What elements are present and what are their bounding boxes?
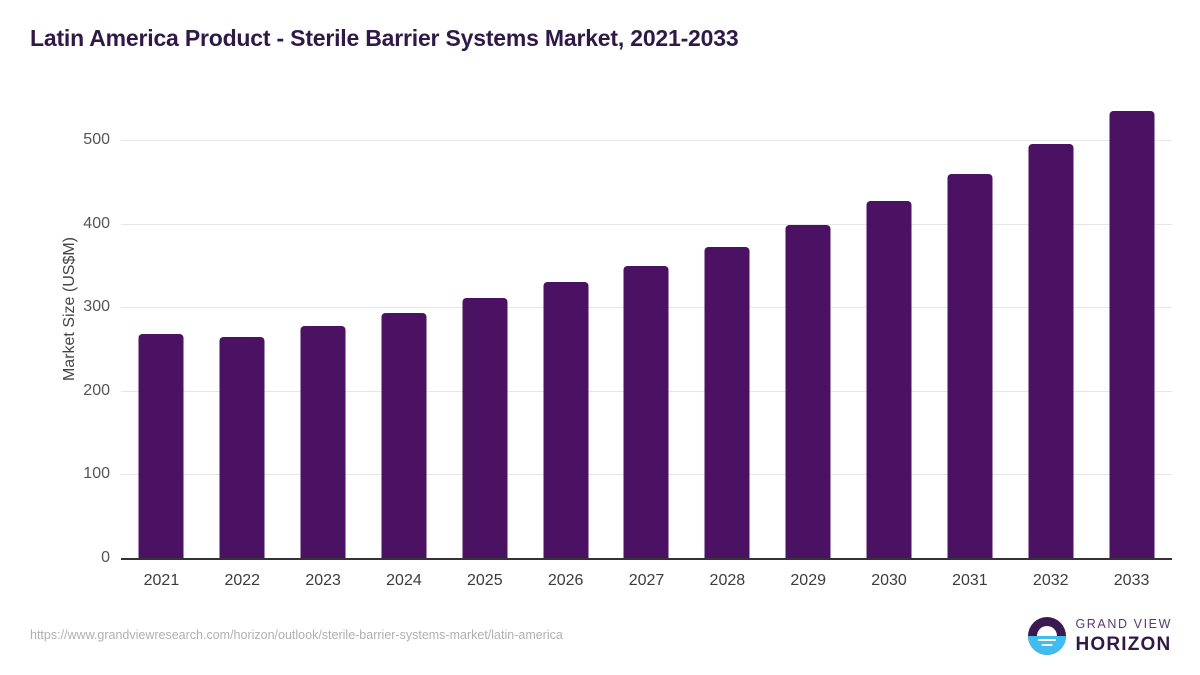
y-tick-label: 200 <box>50 382 110 400</box>
x-tick-label: 2025 <box>444 572 525 590</box>
bar-group: 2029 <box>768 0 849 675</box>
bar-group: 2032 <box>1010 0 1091 675</box>
logo-line-lower <box>1042 644 1053 646</box>
bar[interactable] <box>462 298 507 558</box>
x-tick-label: 2023 <box>283 572 364 590</box>
bar[interactable] <box>381 313 426 558</box>
bar-group: 2025 <box>444 0 525 675</box>
bar-group: 2022 <box>202 0 283 675</box>
y-tick-label: 100 <box>50 465 110 483</box>
bar[interactable] <box>947 174 992 558</box>
bar[interactable] <box>139 334 184 558</box>
bar[interactable] <box>624 266 669 558</box>
chart-page: Latin America Product - Sterile Barrier … <box>0 0 1200 675</box>
bar[interactable] <box>867 201 912 558</box>
bar-group: 2033 <box>1091 0 1172 675</box>
bar-group: 2021 <box>121 0 202 675</box>
logo-line-upper <box>1038 639 1056 641</box>
bar[interactable] <box>301 326 346 558</box>
x-tick-label: 2032 <box>1010 572 1091 590</box>
chart-plot-area: Market Size (US$M) 0100200300400500 2021… <box>0 0 1200 675</box>
bar-group: 2024 <box>364 0 445 675</box>
x-tick-label: 2029 <box>768 572 849 590</box>
horizon-sun-icon <box>1028 617 1066 655</box>
x-tick-label: 2026 <box>525 572 606 590</box>
bar[interactable] <box>543 282 588 558</box>
x-tick-label: 2027 <box>606 572 687 590</box>
bar[interactable] <box>220 337 265 558</box>
y-tick-label: 400 <box>50 215 110 233</box>
grand-view-horizon-logo[interactable]: GRAND VIEW HORIZON <box>1028 617 1172 655</box>
bar[interactable] <box>1109 111 1154 558</box>
x-tick-label: 2030 <box>849 572 930 590</box>
x-tick-label: 2031 <box>929 572 1010 590</box>
logo-sun-dome <box>1037 626 1057 636</box>
bar-group: 2030 <box>849 0 930 675</box>
bar[interactable] <box>1028 144 1073 558</box>
source-url[interactable]: https://www.grandviewresearch.com/horizo… <box>30 628 563 642</box>
y-tick-label: 0 <box>50 549 110 567</box>
logo-grand-view-text: GRAND VIEW <box>1075 618 1172 631</box>
x-tick-label: 2028 <box>687 572 768 590</box>
x-tick-label: 2033 <box>1091 572 1172 590</box>
x-tick-label: 2021 <box>121 572 202 590</box>
logo-wordmark: GRAND VIEW HORIZON <box>1075 618 1172 654</box>
bar-group: 2026 <box>525 0 606 675</box>
bar[interactable] <box>705 247 750 558</box>
logo-horizon-text: HORIZON <box>1075 635 1172 654</box>
bar-group: 2028 <box>687 0 768 675</box>
y-tick-label: 500 <box>50 131 110 149</box>
bar-group: 2031 <box>929 0 1010 675</box>
x-tick-label: 2022 <box>202 572 283 590</box>
y-tick-label: 300 <box>50 298 110 316</box>
x-tick-label: 2024 <box>364 572 445 590</box>
bar-series: 2021202220232024202520262027202820292030… <box>121 0 1172 675</box>
bar-group: 2023 <box>283 0 364 675</box>
bar[interactable] <box>786 225 831 558</box>
bar-group: 2027 <box>606 0 687 675</box>
